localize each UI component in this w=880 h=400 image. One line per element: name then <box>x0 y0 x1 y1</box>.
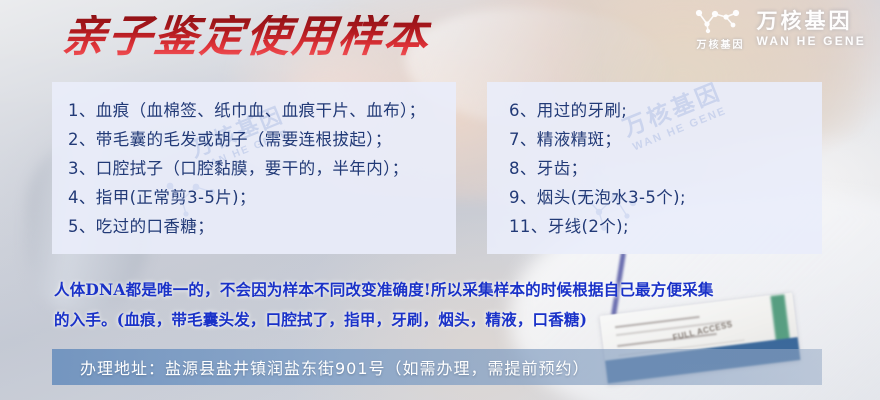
page-title: 亲子鉴定使用样本 <box>60 15 433 59</box>
list-item: 6、用过的牙刷; <box>509 96 822 125</box>
list-item: 2、带毛囊的毛发或胡子（需要连根拔起）； <box>68 125 456 154</box>
paragraph-line: 人体DNA都是唯一的，不会因为样本不同改变准确度!所以采集样本的时候根据自己最方… <box>54 275 844 305</box>
sample-list-right: 6、用过的牙刷; 7、精液精斑； 8、牙齿； 9、烟头(无泡水3-5个); 11… <box>487 82 822 241</box>
list-item: 1、血痕（血棉签、纸巾血、血痕干片、血布）； <box>68 96 456 125</box>
sample-list-left: 1、血痕（血棉签、纸巾血、血痕干片、血布）； 2、带毛囊的毛发或胡子（需要连根拔… <box>52 82 456 241</box>
list-item: 4、指甲(正常剪3-5片)； <box>68 183 456 212</box>
logo-wordmark: 万核基因 WAN HE GENE <box>756 11 866 48</box>
logo-brand-cn: 万核基因 <box>756 11 866 33</box>
logo-brand-en: WAN HE GENE <box>756 35 866 48</box>
address-bar: 办理地址：盐源县盐井镇润盐东街901号（如需办理，需提前预约） <box>52 349 822 385</box>
list-item: 8、牙齿； <box>509 154 822 183</box>
paragraph-line: 的入手。(血痕，带毛囊头发，口腔拭了，指甲，牙刷，烟头，精液，口香糖) <box>54 305 844 335</box>
brand-logo: 万核基因 万核基因 WAN HE GENE <box>693 8 866 51</box>
list-item: 5、吃过的口香糖； <box>68 212 456 241</box>
list-item: 7、精液精斑； <box>509 125 822 154</box>
address-text: 办理地址：盐源县盐井镇润盐东街901号（如需办理，需提前预约） <box>52 355 590 379</box>
list-item: 11、牙线(2个); <box>509 212 822 241</box>
sample-list-panel-right: 万核基因 WAN HE GENE 6、用过的牙刷; 7、精液精斑； 8、牙齿； … <box>487 82 822 254</box>
list-item: 9、烟头(无泡水3-5个); <box>509 183 822 212</box>
logo-mark: 万核基因 <box>693 8 747 51</box>
logo-mark-label: 万核基因 <box>696 36 744 51</box>
sample-list-panel-left: 万核基因 WAN HE GENE 1、血痕（血棉签、纸巾血、血痕干片、血布）； … <box>52 82 456 254</box>
description-paragraph: 人体DNA都是唯一的，不会因为样本不同改变准确度!所以采集样本的时候根据自己最方… <box>54 275 844 335</box>
list-item: 3、口腔拭子（口腔黏膜，要干的，半年内）； <box>68 154 456 183</box>
poster-root: FULL ACCESS 亲子鉴定使用样本 <box>0 0 880 400</box>
molecule-network-icon <box>693 8 747 34</box>
